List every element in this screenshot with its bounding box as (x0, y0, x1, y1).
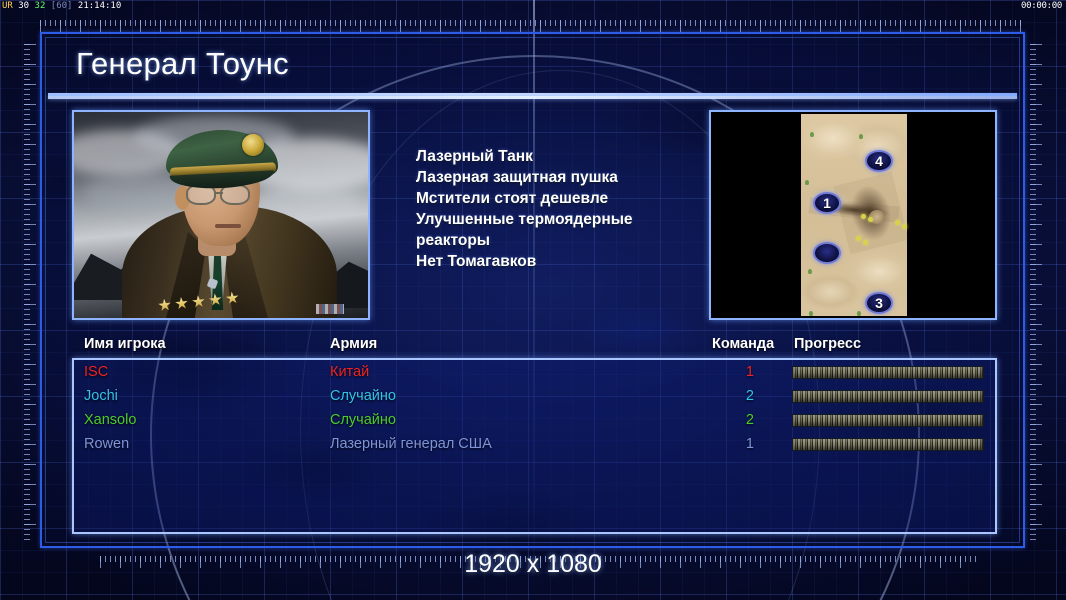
star-icon (174, 296, 188, 310)
table-row[interactable]: ISCКитай1 (74, 360, 995, 384)
player-list-body: ISCКитай1JochiСлучайно2XansoloСлучайно2R… (72, 358, 997, 534)
player-list-header: Имя игрока Армия Команда Прогресс (72, 336, 997, 358)
map-start-position[interactable]: 1 (813, 192, 841, 214)
general-info-row: Лазерный Танк Лазерная защитная пушка Мс… (72, 110, 997, 320)
perf-value-1: 30 (18, 1, 29, 11)
ruler-right (1030, 44, 1042, 540)
portrait-ribbon-bar-icon (316, 304, 344, 314)
column-header-player-name: Имя игрока (84, 336, 166, 352)
general-ability-list: Лазерный Танк Лазерная защитная пушка Мс… (416, 146, 756, 272)
cell-army: Лазерный генерал США (330, 436, 492, 452)
portrait-mouth (215, 224, 241, 228)
ability-line: Улучшенные термоядерные (416, 209, 756, 230)
player-list-panel: Имя игрока Армия Команда Прогресс ISCКит… (72, 336, 997, 534)
ability-line: Лазерная защитная пушка (416, 167, 756, 188)
progress-bar-fill (793, 367, 983, 378)
progress-bar (792, 438, 984, 451)
table-row[interactable]: XansoloСлучайно2 (74, 408, 995, 432)
cell-progress (792, 366, 984, 379)
cell-player-name: Xansolo (84, 412, 136, 428)
map-resource-icon (863, 240, 868, 245)
portrait-cap-insignia-icon (242, 134, 264, 156)
map-vegetation-icon (809, 311, 813, 316)
map-preview-canvas: 413 (713, 114, 993, 316)
ability-line: реакторы (416, 230, 756, 251)
ability-line: Мстители стоят дешевле (416, 188, 756, 209)
resolution-label: 1920 x 1080 (0, 550, 1066, 579)
map-vegetation-icon (805, 180, 809, 185)
map-preview[interactable]: 413 (709, 110, 997, 320)
perf-bracket: [60] (51, 1, 73, 11)
progress-bar-fill (793, 439, 983, 450)
map-vegetation-icon (859, 134, 863, 139)
cell-team: 1 (740, 364, 754, 380)
map-start-position[interactable]: 3 (865, 292, 893, 314)
ruler-top (40, 20, 1025, 32)
cell-player-name: ISC (84, 364, 108, 380)
map-resource-icon (895, 220, 900, 225)
game-skirmish-setup-screen: UR 30 32 [60] 21:14:10 00:00:00 Генерал … (0, 0, 1066, 600)
column-header-team: Команда (712, 336, 774, 352)
cell-army: Случайно (330, 388, 396, 404)
cell-progress (792, 438, 984, 451)
main-window-frame: Генерал Тоунс (40, 32, 1025, 548)
progress-bar (792, 414, 984, 427)
perf-label: UR (2, 1, 13, 11)
portrait-image (74, 112, 368, 318)
star-icon (208, 293, 222, 307)
column-header-progress: Прогресс (794, 336, 861, 352)
cell-player-name: Rowen (84, 436, 129, 452)
map-resource-icon (902, 224, 907, 229)
progress-bar (792, 366, 984, 379)
perf-value-2: 32 (35, 1, 46, 11)
portrait-glasses-bridge (215, 192, 223, 194)
cell-army: Случайно (330, 412, 396, 428)
title-bar: Генерал Тоунс (48, 40, 1017, 96)
star-icon (191, 295, 205, 309)
cell-army: Китай (330, 364, 369, 380)
map-resource-icon (868, 217, 873, 222)
progress-bar-fill (793, 391, 983, 402)
star-icon (158, 298, 172, 312)
ability-line: Лазерный Танк (416, 146, 756, 167)
star-icon (225, 291, 239, 305)
page-title: Генерал Тоунс (76, 46, 289, 82)
general-portrait (72, 110, 370, 320)
map-resource-icon (856, 236, 861, 241)
cell-team: 1 (740, 436, 754, 452)
performance-hud: UR 30 32 [60] 21:14:10 (2, 1, 121, 11)
ruler-left (24, 44, 36, 540)
game-clock: 00:00:00 (1021, 1, 1062, 11)
map-vegetation-icon (857, 311, 861, 316)
progress-bar (792, 390, 984, 403)
table-row[interactable]: JochiСлучайно2 (74, 384, 995, 408)
map-start-position[interactable]: 4 (865, 150, 893, 172)
column-header-army: Армия (330, 336, 377, 352)
cell-progress (792, 414, 984, 427)
session-time: 21:14:10 (78, 1, 121, 11)
title-divider (48, 96, 1017, 99)
map-vegetation-icon (808, 269, 812, 274)
map-vegetation-icon (810, 132, 814, 137)
progress-bar-fill (793, 415, 983, 426)
ability-line: Нет Томагавков (416, 251, 756, 272)
cell-team: 2 (740, 388, 754, 404)
map-resource-icon (861, 214, 866, 219)
cell-progress (792, 390, 984, 403)
cell-player-name: Jochi (84, 388, 118, 404)
table-row[interactable]: RowenЛазерный генерал США1 (74, 432, 995, 456)
cell-team: 2 (740, 412, 754, 428)
map-start-position[interactable] (813, 242, 841, 264)
